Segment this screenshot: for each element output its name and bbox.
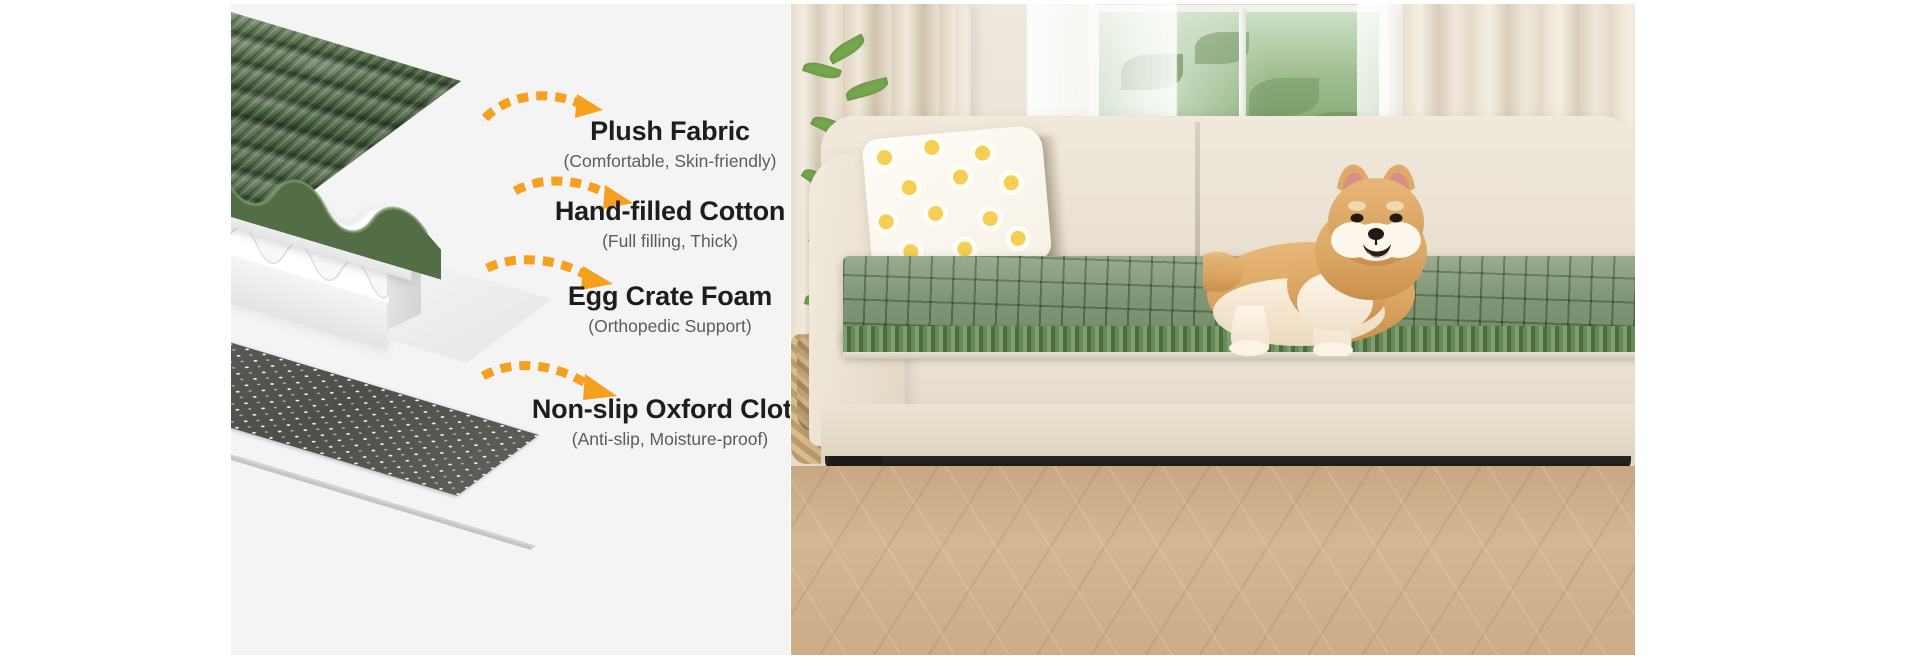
- daisy-print-pillow: [861, 124, 1052, 275]
- layer-diagram-panel: Plush Fabric (Comfortable, Skin-friendly…: [231, 4, 790, 655]
- label-egg-crate-foam: Egg Crate Foam (Orthopedic Support): [460, 281, 790, 337]
- label-non-slip-oxford-cloth: Non-slip Oxford Cloth (Anti-slip, Moistu…: [460, 394, 790, 450]
- label-subtitle: (Orthopedic Support): [460, 316, 790, 337]
- label-plush-fabric: Plush Fabric (Comfortable, Skin-friendly…: [460, 116, 790, 172]
- label-title: Non-slip Oxford Cloth: [460, 394, 790, 426]
- label-title: Egg Crate Foam: [460, 281, 790, 313]
- label-subtitle: (Comfortable, Skin-friendly): [460, 151, 790, 172]
- label-subtitle: (Anti-slip, Moisture-proof): [460, 429, 790, 450]
- label-title: Hand-filled Cotton: [460, 196, 790, 228]
- infographic-root: Plush Fabric (Comfortable, Skin-friendly…: [0, 0, 1920, 669]
- lifestyle-photo-panel: [791, 4, 1635, 655]
- label-subtitle: (Full filling, Thick): [460, 231, 790, 252]
- herringbone-wood-floor: [791, 466, 1635, 655]
- label-hand-filled-cotton: Hand-filled Cotton (Full filling, Thick): [460, 196, 790, 252]
- shiba-inu-dog: [1203, 156, 1475, 356]
- label-title: Plush Fabric: [460, 116, 790, 148]
